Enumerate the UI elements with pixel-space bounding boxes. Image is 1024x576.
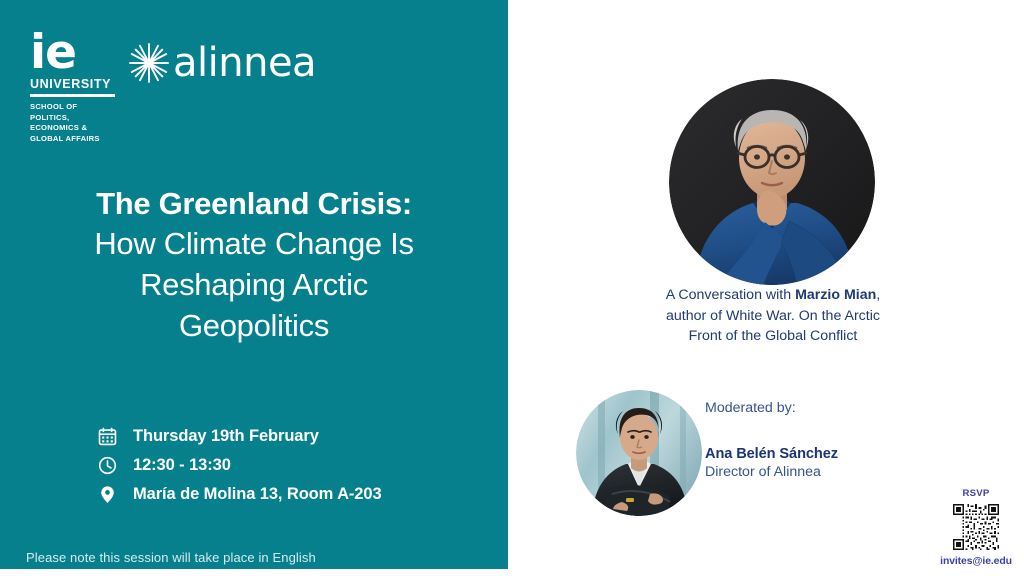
ie-school-line-4: GLOBAL AFFAIRS <box>30 134 116 144</box>
event-location-text: María de Molina 13, Room A-203 <box>133 485 382 504</box>
ie-logo-mark: ie <box>30 31 116 74</box>
speaker-caption-line-2: author of White War. On the Arctic <box>666 308 880 324</box>
alinnea-logo: alinnea <box>127 39 316 87</box>
qr-code[interactable] <box>953 504 999 550</box>
event-title-line-3: Reshaping Arctic <box>22 265 486 306</box>
speaker-caption-line-3: Front of the Global Conflict <box>689 328 858 344</box>
moderator-role: Director of Alinnea <box>705 464 838 480</box>
rsvp-label: RSVP <box>928 488 1024 499</box>
event-time-text: 12:30 - 13:30 <box>133 456 231 475</box>
event-date-row: Thursday 19th February <box>98 423 382 449</box>
event-title: The Greenland Crisis: How Climate Change… <box>22 184 486 346</box>
logo-row: ie UNIVERSITY SCHOOL OF POLITICS, ECONOM… <box>0 0 508 150</box>
ie-school-line-1: SCHOOL OF <box>30 102 116 112</box>
ie-logo-divider <box>30 94 115 97</box>
event-location-row: María de Molina 13, Room A-203 <box>98 481 382 507</box>
starburst-icon <box>127 41 171 85</box>
speaker-name: Marzio Mian <box>795 287 876 303</box>
event-title-line-4: Geopolitics <box>22 306 486 347</box>
ie-logo-university-label: UNIVERSITY <box>30 77 116 91</box>
speaker-caption-suffix: , <box>876 287 880 303</box>
ie-university-logo: ie UNIVERSITY SCHOOL OF POLITICS, ECONOM… <box>30 31 116 144</box>
speaker-caption: A Conversation with Marzio Mian, author … <box>618 285 928 347</box>
ie-logo-school-lines: SCHOOL OF POLITICS, ECONOMICS & GLOBAL A… <box>30 102 116 144</box>
left-teal-panel: ie UNIVERSITY SCHOOL OF POLITICS, ECONOM… <box>0 0 508 569</box>
location-pin-icon <box>98 485 120 504</box>
event-date-text: Thursday 19th February <box>133 427 319 446</box>
rsvp-block[interactable]: RSVP <box>928 488 1024 567</box>
alinnea-wordmark: alinnea <box>173 43 316 83</box>
moderator-info: Moderated by: Ana Belén Sánchez Director… <box>705 400 838 480</box>
clock-icon <box>98 456 120 475</box>
moderator-portrait-photo <box>576 390 702 516</box>
speaker-portrait-photo <box>669 79 875 285</box>
ie-school-line-3: ECONOMICS & <box>30 123 116 133</box>
calendar-icon <box>98 427 120 446</box>
speaker-caption-prefix: A Conversation with <box>666 287 795 303</box>
moderator-name: Ana Belén Sánchez <box>705 446 838 462</box>
ie-school-line-2: POLITICS, <box>30 113 116 123</box>
event-title-line-2: How Climate Change Is <box>22 224 486 265</box>
rsvp-email[interactable]: invites@ie.edu <box>928 556 1024 567</box>
event-title-line-1: The Greenland Crisis: <box>22 184 486 224</box>
event-time-row: 12:30 - 13:30 <box>98 452 382 478</box>
moderated-by-label: Moderated by: <box>705 400 838 416</box>
right-white-panel: A Conversation with Marzio Mian, author … <box>508 0 1024 576</box>
event-details: Thursday 19th February 12:30 - 13:30 Mar… <box>98 423 382 510</box>
language-note: Please note this session will take place… <box>26 550 316 565</box>
